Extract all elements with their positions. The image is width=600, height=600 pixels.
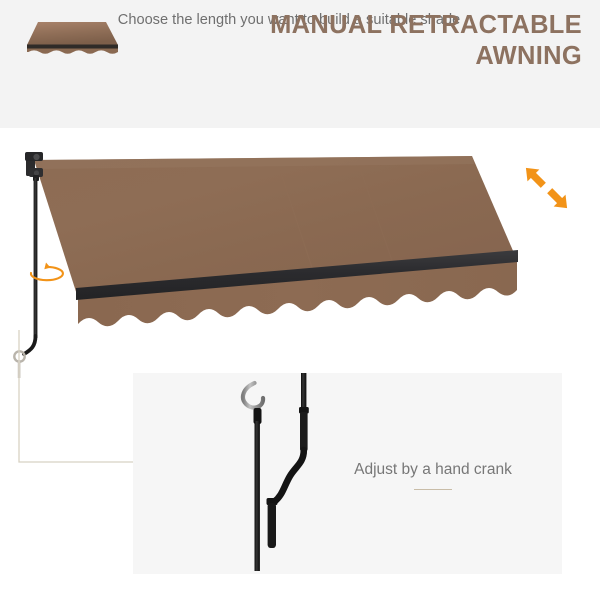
page-title-line-1: MANUAL RETRACTABLE xyxy=(120,10,582,41)
caption-underline xyxy=(414,489,452,490)
crank-rod-with-hook xyxy=(243,373,263,571)
hand-crank-detail-panel: Adjust by a hand crank xyxy=(133,373,562,574)
awning-hero-image xyxy=(0,128,600,378)
detail-caption-block: Adjust by a hand crank xyxy=(308,460,558,490)
crank-rod-upper xyxy=(14,178,37,362)
crank-rod-lower xyxy=(18,360,21,378)
header-banner: MANUAL RETRACTABLE AWNING Choose the len… xyxy=(0,0,600,128)
product-infographic: MANUAL RETRACTABLE AWNING Choose the len… xyxy=(0,0,600,600)
crank-handle-rod xyxy=(267,373,309,548)
extend-arrow-icon xyxy=(520,162,573,214)
awning-icon xyxy=(24,18,120,60)
page-title-line-2: AWNING xyxy=(120,41,582,72)
detail-caption: Adjust by a hand crank xyxy=(308,460,558,480)
header-text-block: MANUAL RETRACTABLE AWNING xyxy=(120,10,582,72)
